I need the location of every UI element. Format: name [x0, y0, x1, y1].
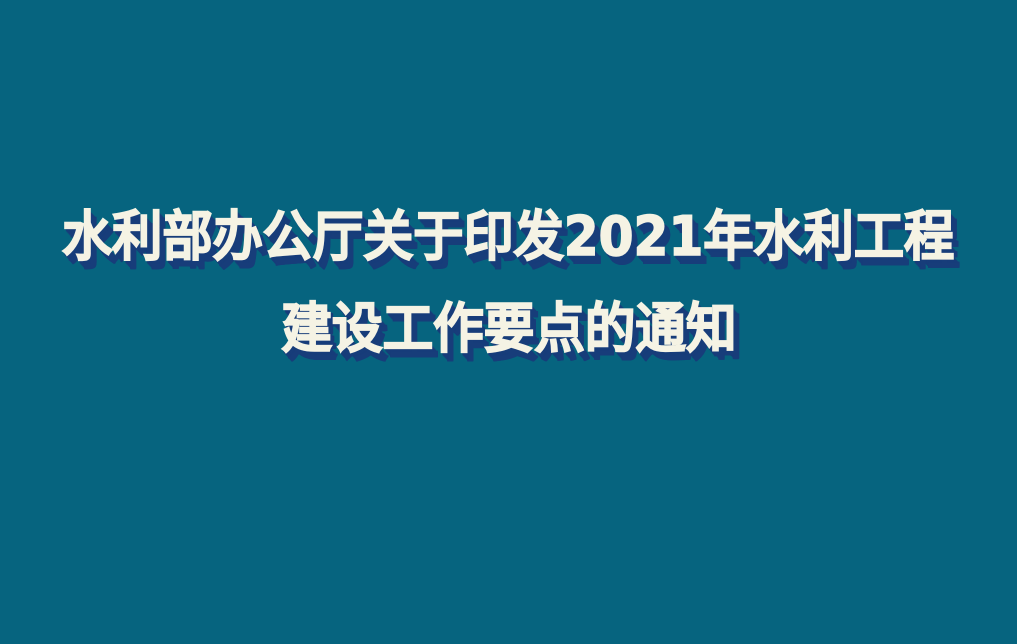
title-line-1: 水利部办公厅关于印发2021年水利工程 [62, 210, 954, 264]
title-banner: 水利部办公厅关于印发2021年水利工程 建设工作要点的通知 [0, 0, 1017, 644]
title-line-2: 建设工作要点的通知 [281, 302, 736, 356]
page-title: 水利部办公厅关于印发2021年水利工程 建设工作要点的通知 [0, 0, 1017, 644]
